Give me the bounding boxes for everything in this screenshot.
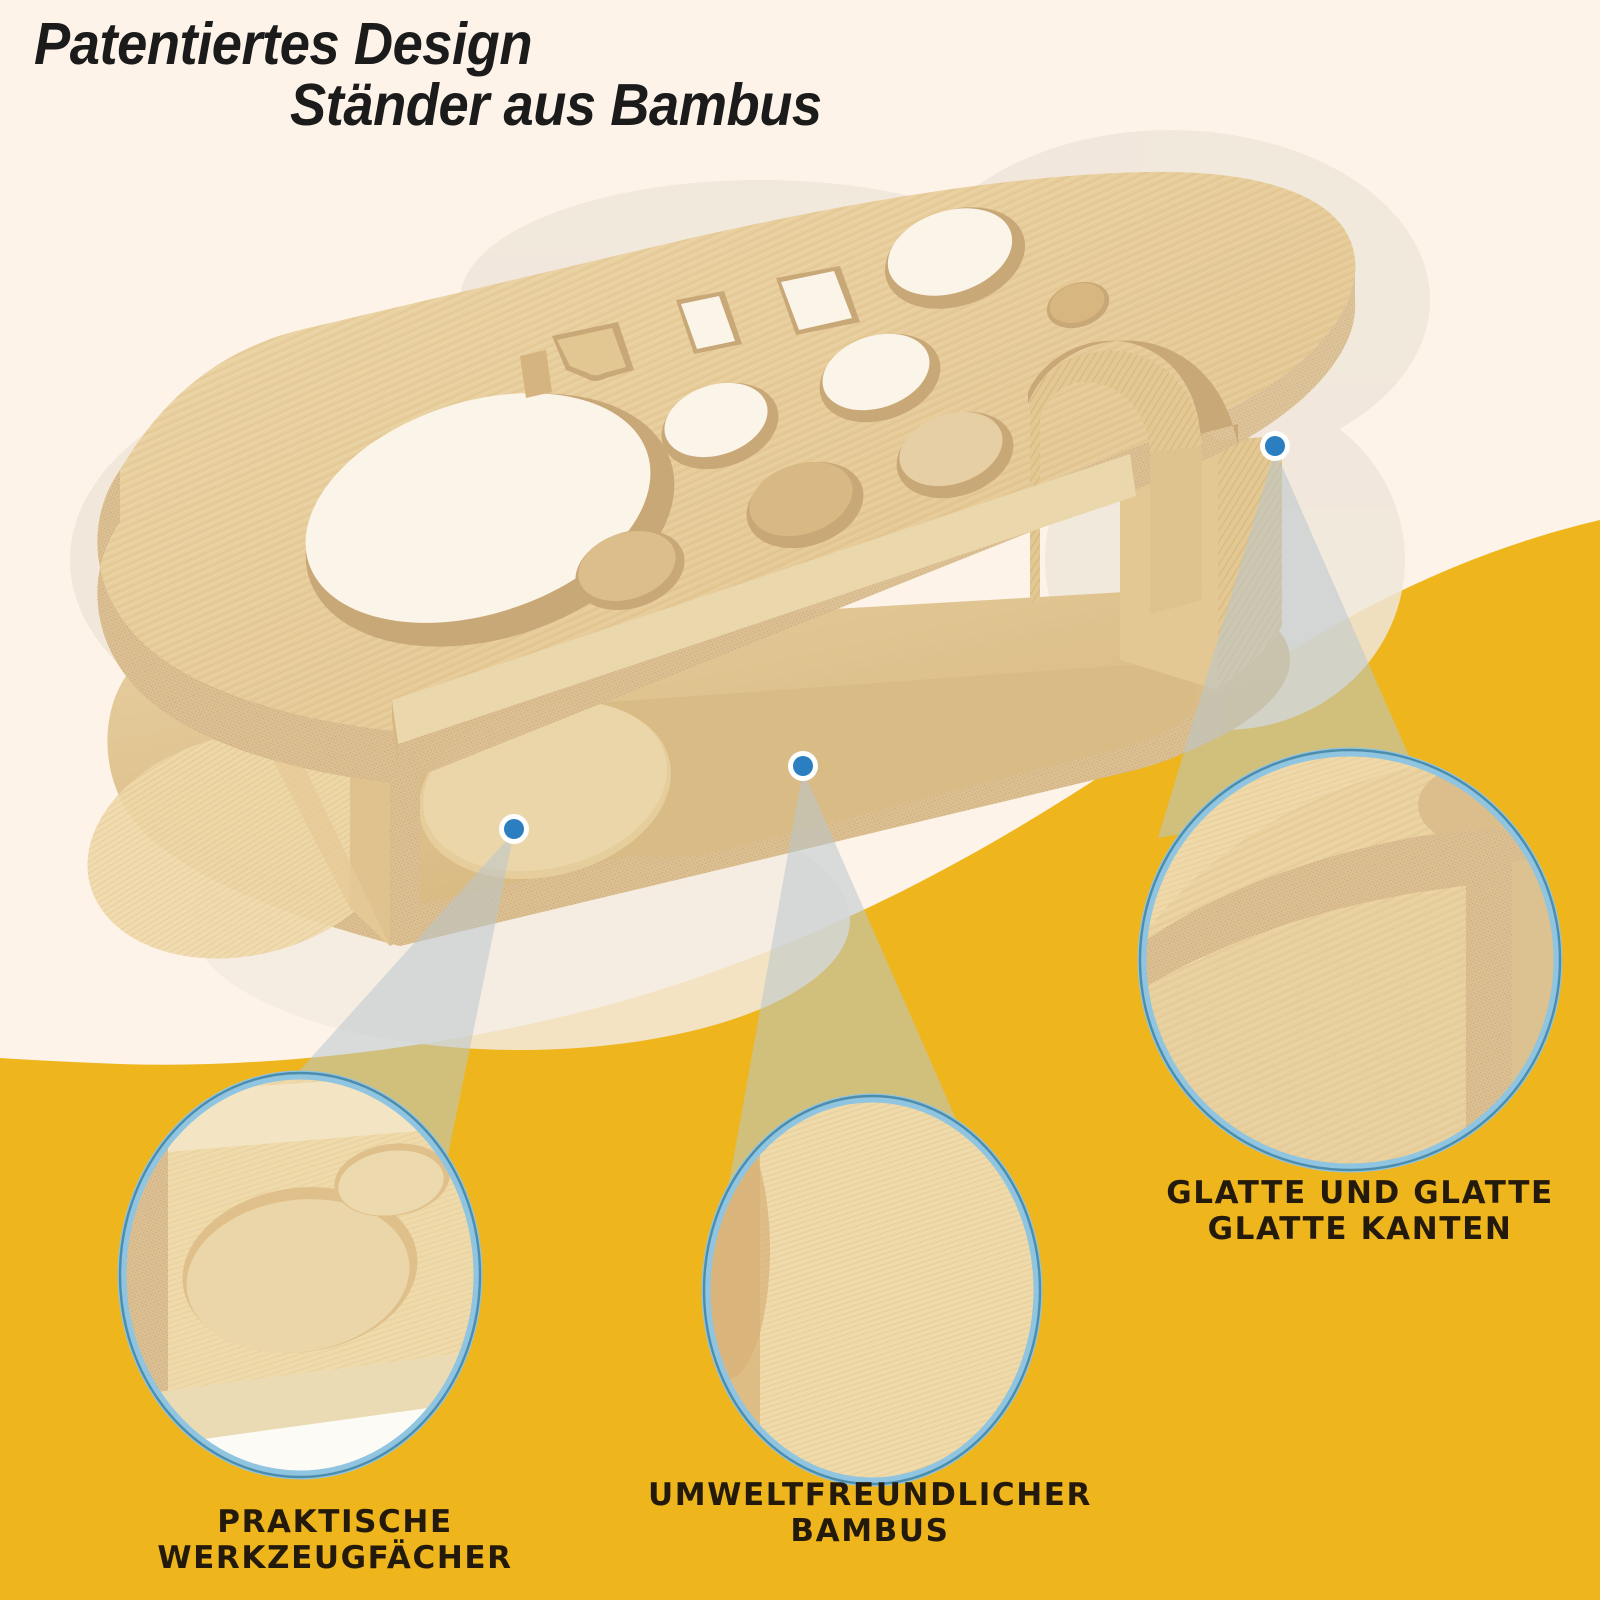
- marker-smooth-edges[interactable]: [1260, 431, 1290, 461]
- marker-tool-compartments[interactable]: [499, 814, 529, 844]
- product-illustration: [0, 0, 1600, 1600]
- infographic-canvas: Patentiertes Design Ständer aus Bambus P…: [0, 0, 1600, 1600]
- marker-bamboo-grain[interactable]: [788, 751, 818, 781]
